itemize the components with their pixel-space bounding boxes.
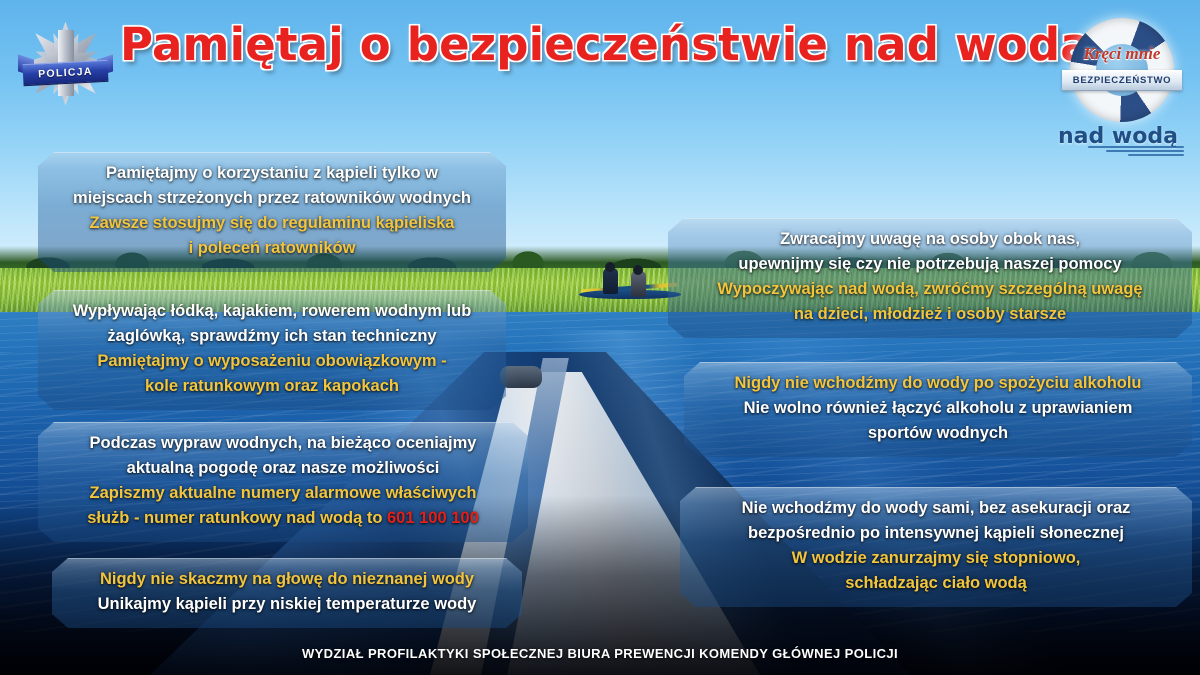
- panel-text-line: upewnijmy się czy nie potrzebują naszej …: [686, 252, 1174, 277]
- safety-message-panel: Nigdy nie skaczmy na głowę do nieznanej …: [52, 558, 522, 628]
- panel-text-line: miejscach strzeżonych przez ratowników w…: [56, 186, 488, 211]
- poster-header: POLICJA Pamiętaj o bezpieczeństwie nad w…: [0, 0, 1200, 120]
- poster-root: POLICJA Pamiętaj o bezpieczeństwie nad w…: [0, 0, 1200, 675]
- safety-message-panel: Podczas wypraw wodnych, na bieżąco oceni…: [38, 422, 528, 542]
- panel-text-line: schładzając ciało wodą: [698, 571, 1174, 596]
- badge-ribbon-label: POLICJA: [38, 66, 93, 81]
- panel-text-line: Pamiętajmy o korzystaniu z kąpieli tylko…: [56, 161, 488, 186]
- wave-lines-icon: [1088, 146, 1184, 156]
- panel-text-line: bezpośrednio po intensywnej kąpieli słon…: [698, 521, 1174, 546]
- campaign-logo-banner: BEZPIECZEŃSTWO: [1062, 70, 1182, 91]
- panel-text-line: W wodzie zanurzajmy się stopniowo,: [698, 546, 1174, 571]
- panel-text-line: Podczas wypraw wodnych, na bieżąco oceni…: [56, 431, 510, 456]
- panel-text-line: służb - numer ratunkowy nad wodą to 601 …: [56, 506, 510, 531]
- page-title: Pamiętaj o bezpieczeństwie nad wodą: [120, 18, 1040, 71]
- panel-text-line: Nigdy nie wchodźmy do wody po spożyciu a…: [702, 371, 1174, 396]
- panel-text-line: Unikajmy kąpieli przy niskiej temperatur…: [70, 592, 504, 617]
- panel-text-line: Zapiszmy aktualne numery alarmowe właści…: [56, 481, 510, 506]
- panel-text-line: sportów wodnych: [702, 421, 1174, 446]
- panel-text-line: Wypoczywając nad wodą, zwróćmy szczególn…: [686, 277, 1174, 302]
- safety-message-panel: Pamiętajmy o korzystaniu z kąpieli tylko…: [38, 152, 506, 272]
- kayak-hull: [579, 290, 681, 299]
- panel-text-line: Pamiętajmy o wyposażeniu obowiązkowym -: [56, 349, 488, 374]
- panel-text-line: Nie wolno również łączyć alkoholu z upra…: [702, 396, 1174, 421]
- campaign-logo: Kręci mnie BEZPIECZEŃSTWO nad wodą: [1048, 18, 1188, 150]
- panel-text-line: aktualną pogodę oraz nasze możliwości: [56, 456, 510, 481]
- badge-ribbon: POLICJA: [22, 60, 108, 86]
- safety-message-panel: Nigdy nie wchodźmy do wody po spożyciu a…: [684, 362, 1192, 457]
- panel-text-line: Nie wchodźmy do wody sami, bez asekuracj…: [698, 496, 1174, 521]
- panel-text-line: i poleceń ratowników: [56, 236, 488, 261]
- police-star-badge-icon: POLICJA: [18, 16, 113, 111]
- safety-message-panel: Wypływając łódką, kajakiem, rowerem wodn…: [38, 290, 506, 410]
- panel-text-line: Zwracajmy uwagę na osoby obok nas,: [686, 227, 1174, 252]
- kayaker-two-head: [633, 265, 643, 275]
- safety-message-panel: Nie wchodźmy do wody sami, bez asekuracj…: [680, 487, 1192, 607]
- safety-message-panel: Zwracajmy uwagę na osoby obok nas,upewni…: [668, 218, 1192, 338]
- panel-text-line: żaglówką, sprawdźmy ich stan techniczny: [56, 324, 488, 349]
- kayaker-one-head: [605, 262, 615, 272]
- panel-text-line: na dzieci, młodzież i osoby starsze: [686, 302, 1174, 327]
- kayak-cleat: [500, 366, 542, 388]
- panel-text-line: Wypływając łódką, kajakiem, rowerem wodn…: [56, 299, 488, 324]
- panel-text-line: Zawsze stosujmy się do regulaminu kąpiel…: [56, 211, 488, 236]
- panel-text-line: Nigdy nie skaczmy na głowę do nieznanej …: [70, 567, 504, 592]
- campaign-logo-line2: BEZPIECZEŃSTWO: [1073, 75, 1171, 86]
- panel-text-line: kole ratunkowym oraz kapokach: [56, 374, 488, 399]
- footer-attribution: WYDZIAŁ PROFILAKTYKI SPOŁECZNEJ BIURA PR…: [0, 646, 1200, 661]
- emergency-phone-number: 601 100 100: [387, 509, 479, 527]
- campaign-logo-line1: Kręci mnie: [1070, 44, 1174, 64]
